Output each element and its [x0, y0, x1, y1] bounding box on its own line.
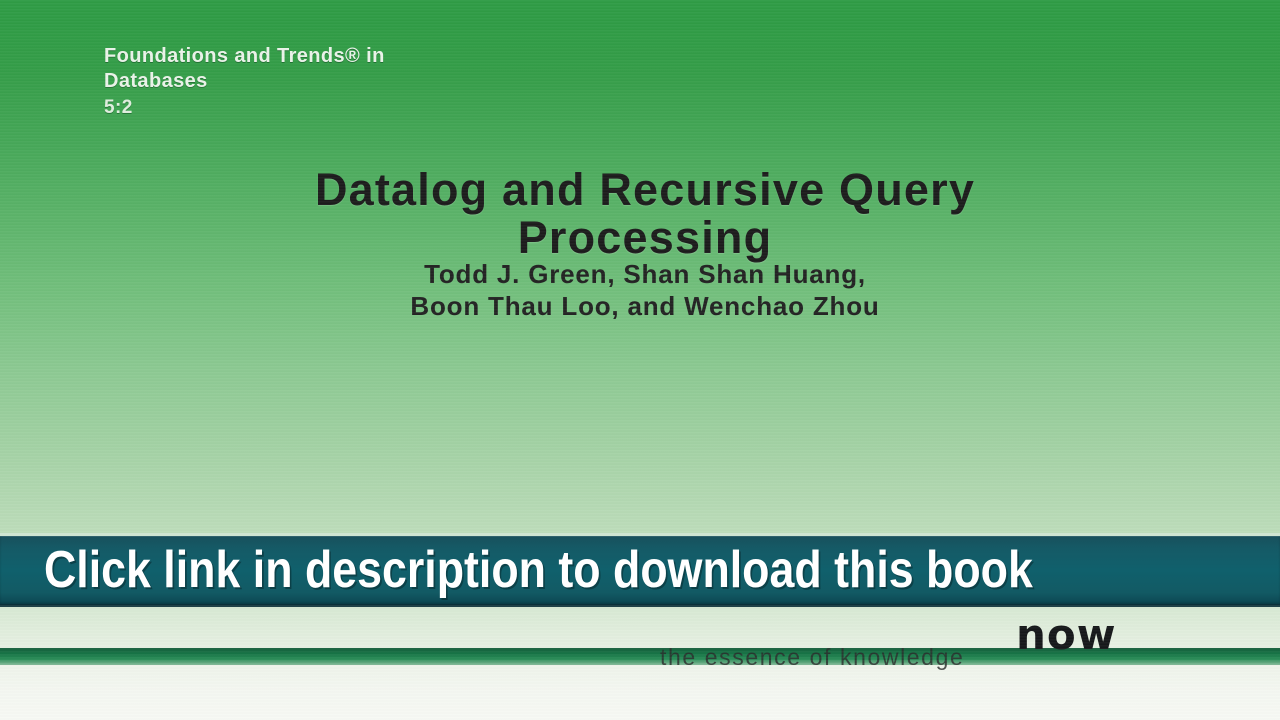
publisher-tagline: the essence of knowledge [660, 644, 964, 670]
promo-banner-bottom-edge [0, 604, 1280, 607]
book-authors-line-2: Boon Thau Loo, and Wenchao Zhou [100, 290, 1190, 322]
book-title: Datalog and Recursive Query Processing [100, 166, 1190, 262]
book-authors: Todd J. Green, Shan Shan Huang, Boon Tha… [100, 258, 1190, 322]
book-title-line-2: Processing [100, 214, 1190, 262]
series-header: Foundations and Trends® in Databases 5:2 [104, 44, 744, 119]
publisher-logo-now: now [1016, 614, 1117, 656]
book-title-line-1: Datalog and Recursive Query [315, 164, 975, 215]
series-title-line-2: Databases [104, 69, 744, 94]
book-cover-background: Foundations and Trends® in Databases 5:2… [0, 0, 1280, 720]
promo-banner-text: Click link in description to download th… [44, 541, 1033, 599]
book-authors-line-1: Todd J. Green, Shan Shan Huang, [100, 258, 1190, 290]
series-volume-number: 5:2 [104, 97, 744, 119]
series-title-line-1: Foundations and Trends® in [104, 44, 744, 69]
book-cover-screenshot: Foundations and Trends® in Databases 5:2… [0, 0, 1280, 720]
